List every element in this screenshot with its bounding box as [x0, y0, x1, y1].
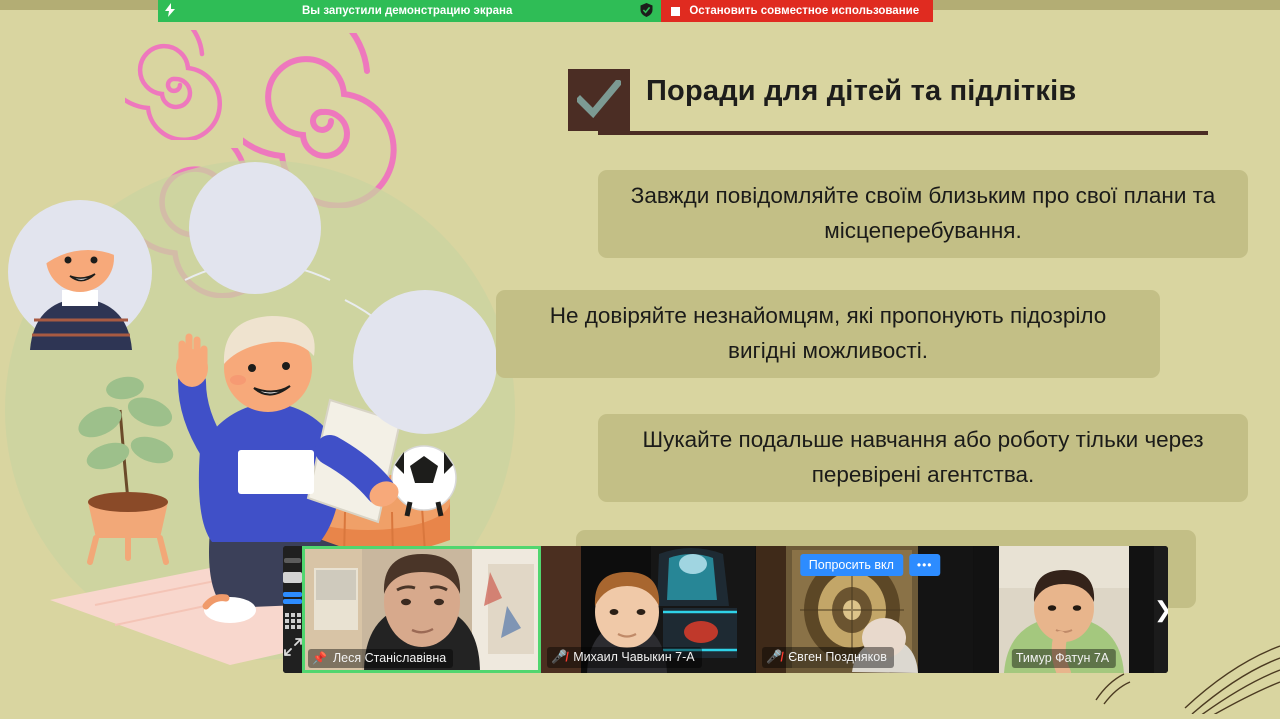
- page-title: Поради для дітей та підлітків: [646, 75, 1076, 108]
- stop-share-label: Остановить совместное использование: [689, 5, 919, 17]
- participant-tile-3[interactable]: Попросить вкл ••• 🎤̸ Євген Поздняков: [756, 546, 974, 673]
- stop-share-button[interactable]: Остановить совместное использование: [661, 0, 933, 22]
- sharing-status-label: Вы запустили демонстрацию экрана: [184, 5, 632, 17]
- shield-icon[interactable]: [640, 3, 653, 20]
- slide-title-block: Поради для дітей та підлітків: [568, 69, 1208, 149]
- stop-square-icon: [671, 7, 680, 16]
- ask-to-unmute-button[interactable]: Попросить вкл: [800, 554, 903, 576]
- participant-name-3: 🎤̸ Євген Поздняков: [762, 647, 894, 668]
- checkmark-box: [568, 69, 630, 131]
- split-view-icon[interactable]: [283, 592, 302, 604]
- next-participants-button[interactable]: ❯: [1154, 546, 1168, 673]
- sharing-status: Вы запустили демонстрацию экрана: [158, 0, 661, 22]
- tip-text-3: Шукайте подальше навчання або роботу тіл…: [616, 423, 1230, 493]
- participant-filmstrip: 📌 Леся Станіславівна: [283, 546, 1168, 673]
- tip-box-1: Завжди повідомляйте своїм близьким про с…: [598, 170, 1248, 258]
- mic-muted-icon: 🎤̸: [551, 649, 567, 665]
- more-options-button[interactable]: •••: [909, 554, 941, 576]
- broadcast-icon: [164, 3, 176, 20]
- title-underline: [598, 131, 1208, 135]
- speaker-view-icon[interactable]: [283, 572, 302, 583]
- filmstrip-view-controls: [283, 546, 302, 673]
- participant-name-1: 📌 Леся Станіславівна: [308, 649, 453, 668]
- participant-tile-2[interactable]: 🎤̸ Михаил Чавыкин 7-А: [541, 546, 756, 673]
- mic-muted-icon: 🎤̸: [766, 649, 782, 665]
- tip-text-2: Не довіряйте незнайомцям, які пропонують…: [514, 299, 1142, 369]
- participant-tile-4[interactable]: Тимур Фатун 7А: [974, 546, 1154, 673]
- check-icon: [577, 80, 621, 120]
- participant-name-4: Тимур Фатун 7А: [1012, 649, 1116, 668]
- minimize-icon[interactable]: [284, 558, 301, 563]
- participant-tile-1[interactable]: 📌 Леся Станіславівна: [302, 546, 541, 673]
- ask-unmute-row: Попросить вкл •••: [800, 554, 941, 576]
- tip-text-1: Завжди повідомляйте своїм близьким про с…: [616, 179, 1230, 249]
- tip-box-2: Не довіряйте незнайомцям, які пропонують…: [496, 290, 1160, 378]
- gallery-grid-icon[interactable]: [285, 613, 301, 629]
- spiral-decoration-small: [125, 30, 235, 140]
- fullscreen-icon[interactable]: [284, 638, 302, 661]
- screen-share-bar: Вы запустили демонстрацию экрана Останов…: [158, 0, 933, 22]
- pin-icon: 📌: [312, 651, 327, 665]
- participant-tiles: 📌 Леся Станіславівна: [302, 546, 1154, 673]
- participant-name-2: 🎤̸ Михаил Чавыкин 7-А: [547, 647, 702, 668]
- tip-box-3: Шукайте подальше навчання або роботу тіл…: [598, 414, 1248, 502]
